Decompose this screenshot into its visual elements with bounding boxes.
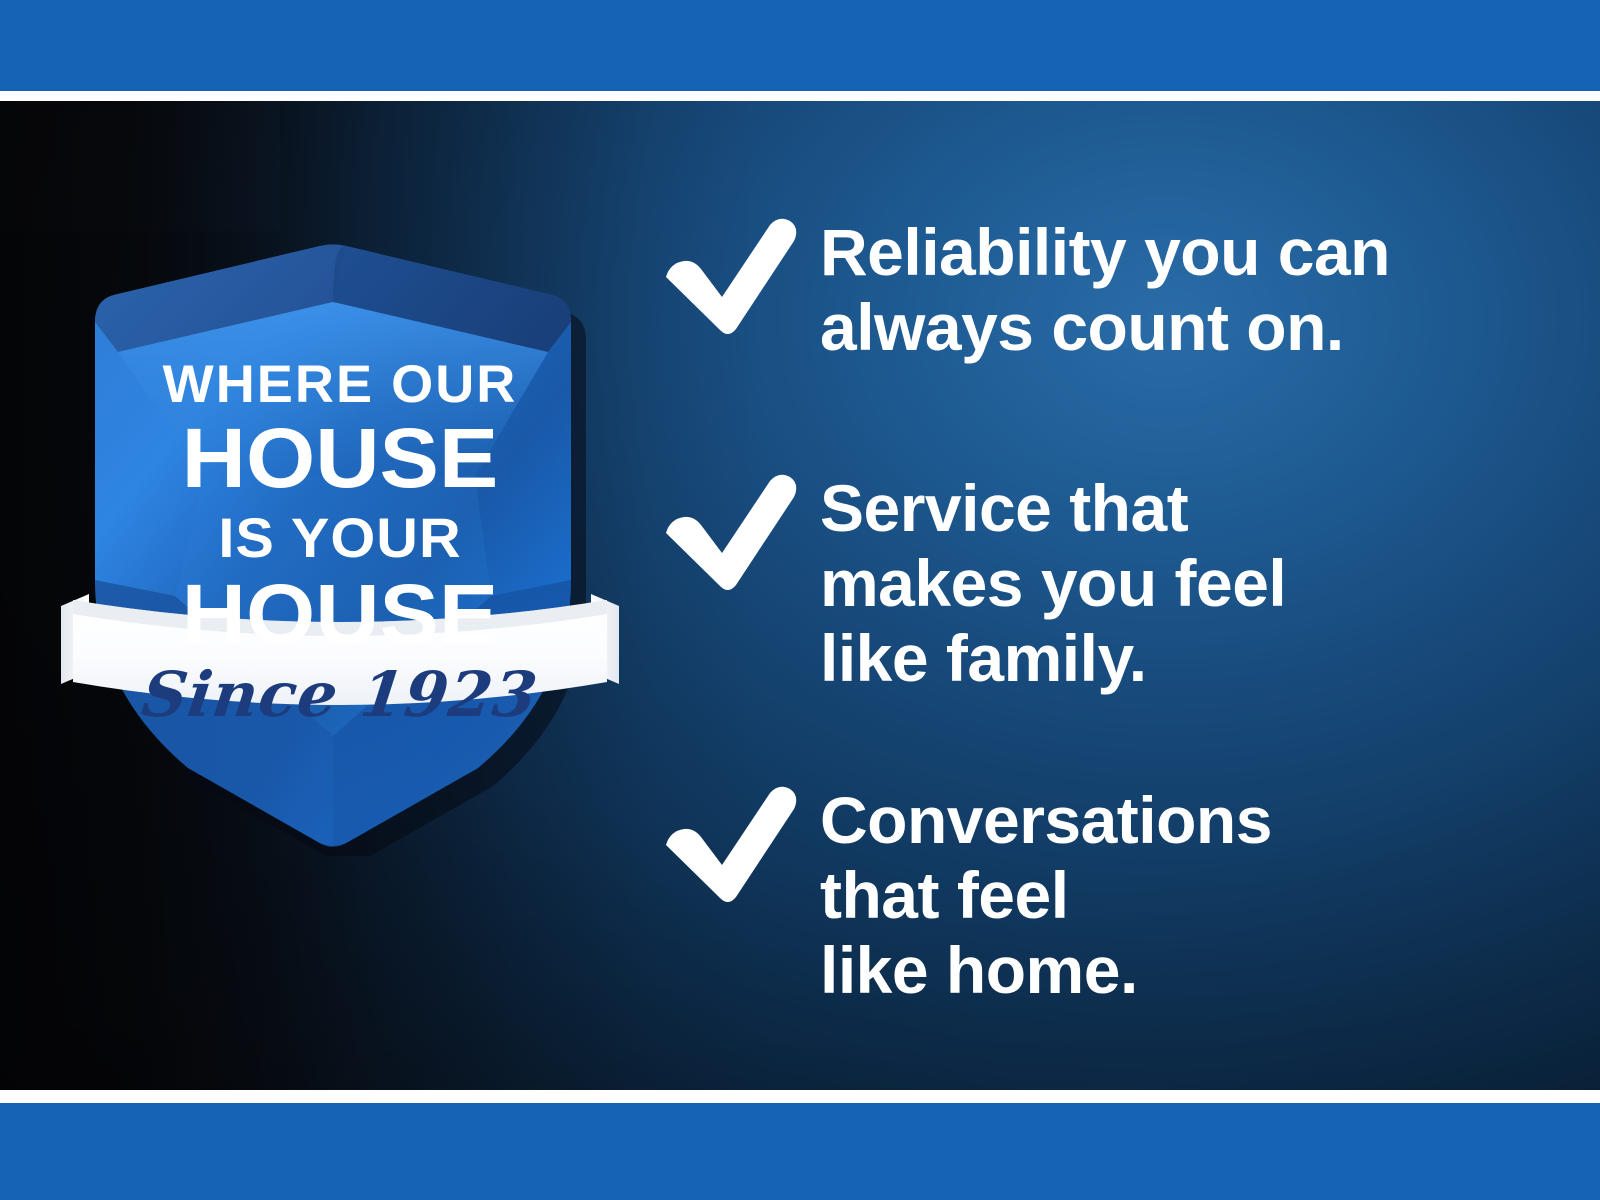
benefit-text: Service that makes you feel like family. [820, 469, 1540, 697]
benefit-item: Service that makes you feel like family. [660, 469, 1540, 697]
benefit-item: Reliability you can always count on. [660, 213, 1540, 365]
benefits-list: Reliability you can always count on. Ser… [660, 101, 1540, 1090]
bottom-brand-bar [0, 1103, 1600, 1200]
benefit-text: Reliability you can always count on. [820, 213, 1540, 365]
benefit-line: like family. [820, 621, 1540, 696]
benefit-line: Service that [820, 471, 1540, 546]
bottom-white-divider [0, 1090, 1600, 1103]
benefit-line: always count on. [820, 290, 1540, 365]
top-brand-bar [0, 0, 1600, 91]
benefit-line: Reliability you can [820, 215, 1540, 290]
benefit-line: that feel [820, 858, 1540, 933]
checkmark-icon [660, 217, 800, 335]
benefit-item: Conversations that feel like home. [660, 781, 1540, 1009]
benefit-line: makes you feel [820, 546, 1540, 621]
shield-badge-icon [55, 176, 625, 856]
checkmark-icon [660, 785, 800, 903]
promo-graphic: WHERE OUR HOUSE IS YOUR HOUSE Since 1923… [0, 0, 1600, 1200]
benefit-line: like home. [820, 933, 1540, 1008]
checkmark-icon [660, 473, 800, 591]
benefit-text: Conversations that feel like home. [820, 781, 1540, 1009]
benefit-line: Conversations [820, 783, 1540, 858]
company-shield-badge: WHERE OUR HOUSE IS YOUR HOUSE Since 1923 [55, 176, 625, 856]
top-white-divider [0, 91, 1600, 101]
